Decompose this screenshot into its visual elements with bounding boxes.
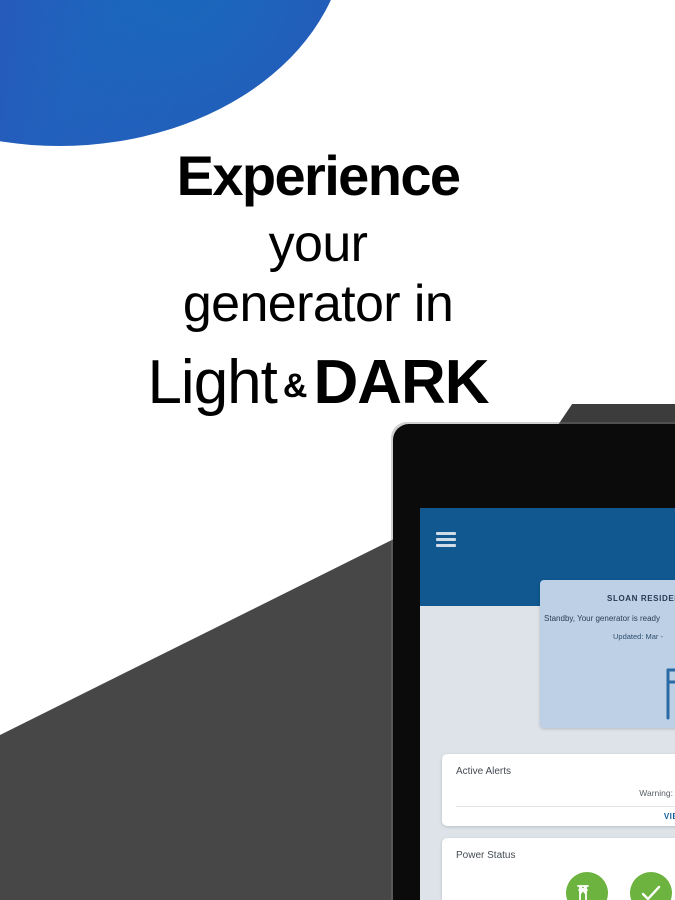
active-alerts-title: Active Alerts	[456, 766, 511, 777]
headline-light-word: Light	[147, 348, 276, 417]
active-alert-item: Warning: Maintenance	[456, 788, 675, 798]
hamburger-icon[interactable]	[436, 532, 456, 547]
view-events-link[interactable]: VIEW EVENTS	[664, 812, 675, 821]
headline-ampersand: &	[277, 367, 314, 405]
headline-line-3: generator in	[0, 278, 636, 330]
check-glyph	[639, 881, 663, 900]
tablet-device: SLOAN RESIDENCE Standby, Your generator …	[393, 424, 675, 900]
generator-illustration-icon	[660, 658, 675, 720]
status-card-subtitle: Standby, Your generator is ready	[540, 614, 675, 623]
hamburger-bar	[436, 544, 456, 547]
active-alerts-card[interactable]: Active Alerts Warning: Maintenance VIEW …	[442, 754, 675, 826]
headline-dark-word: DARK	[313, 348, 488, 417]
headline-line-2: your	[0, 218, 636, 270]
generator-power-icon[interactable]	[630, 872, 672, 900]
promo-headline: Experience your generator in Light&DARK	[0, 148, 636, 414]
status-card-title: SLOAN RESIDENCE	[540, 594, 675, 603]
tower-glyph	[575, 881, 599, 900]
power-status-icons	[566, 872, 672, 900]
power-status-card[interactable]: Power Status	[442, 838, 675, 900]
card-divider	[456, 806, 675, 807]
utility-power-icon[interactable]	[566, 872, 608, 900]
blue-circle-decoration	[0, 0, 347, 146]
generator-status-card[interactable]: SLOAN RESIDENCE Standby, Your generator …	[540, 580, 675, 728]
headline-line-4: Light&DARK	[0, 352, 636, 414]
hamburger-bar	[436, 532, 456, 535]
tablet-screen: SLOAN RESIDENCE Standby, Your generator …	[420, 508, 675, 900]
power-status-title: Power Status	[456, 850, 515, 861]
headline-line-1: Experience	[0, 148, 636, 204]
promo-screenshot: Experience your generator in Light&DARK …	[0, 0, 675, 900]
hamburger-bar	[436, 538, 456, 541]
status-card-updated: Updated: Mar -	[540, 632, 675, 641]
